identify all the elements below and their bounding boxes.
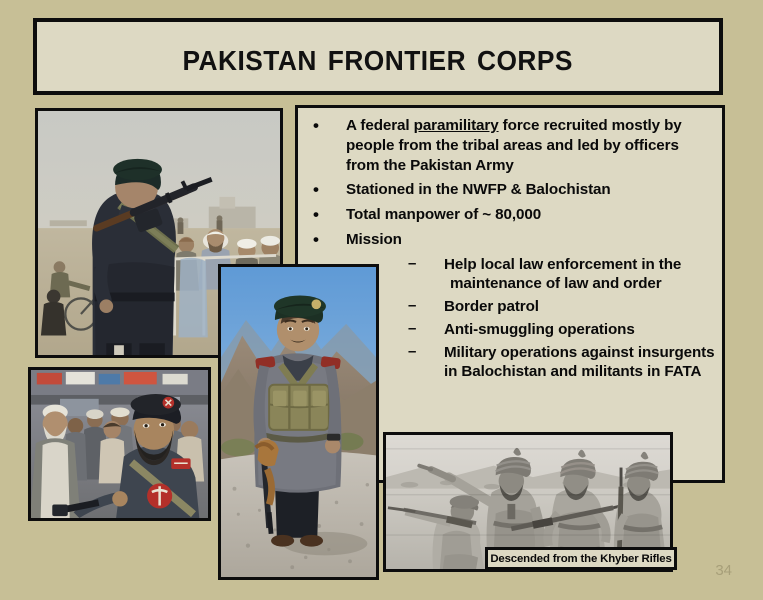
photo-soldier-standing-mountains-image	[221, 267, 376, 577]
sub-bullet-text: Anti-smuggling operations	[444, 321, 635, 338]
bullet-marker-icon: •	[313, 115, 319, 137]
bullet-text: Total manpower of ~ 80,000	[346, 206, 541, 223]
sub-bullet-item-law-enforcement: – Help local law enforcement in the main…	[402, 255, 716, 295]
bullet-text: Mission	[346, 231, 402, 248]
presentation-slide: Pakistan Frontier Corps • A federal para…	[0, 0, 763, 600]
sub-bullet-text: Military operations against insurgents i…	[444, 344, 714, 381]
bullet-text-part-before: A federal	[346, 117, 414, 134]
bullet-text: Stationed in the NWFP & Balochistan	[346, 181, 611, 198]
bullet-marker-icon: •	[313, 229, 319, 251]
photo-caption-text: Descended from the Khyber Rifles	[490, 553, 671, 565]
sub-bullet-text-line2: maintenance of law and order	[444, 274, 662, 294]
photo-soldier-standing-mountains	[218, 264, 379, 580]
page-title: Pakistan Frontier Corps	[183, 37, 573, 77]
bullet-list-level1: • A federal paramilitary force recruited…	[304, 116, 716, 250]
slide-title-box: Pakistan Frontier Corps	[33, 18, 723, 95]
dash-marker-icon: –	[408, 296, 416, 316]
bullet-list-level2: – Help local law enforcement in the main…	[402, 255, 716, 383]
sub-bullet-item-anti-smuggling: – Anti-smuggling operations	[402, 320, 716, 340]
sub-bullet-text: Border patrol	[444, 298, 539, 315]
bullet-marker-icon: •	[313, 204, 319, 226]
bullet-marker-icon: •	[313, 179, 319, 201]
photo-soldier-in-bazaar	[28, 367, 211, 521]
dash-marker-icon: –	[408, 342, 416, 362]
sub-bullet-item-military-operations: – Military operations against insurgents…	[402, 343, 716, 383]
bullet-item-mission: • Mission	[304, 230, 716, 250]
sub-bullet-text-line1: Help local law enforcement in the	[444, 255, 681, 275]
bullet-item-manpower: • Total manpower of ~ 80,000	[304, 205, 716, 225]
photo-caption-box: Descended from the Khyber Rifles	[485, 547, 677, 570]
sub-bullet-item-border-patrol: – Border patrol	[402, 297, 716, 317]
photo-soldier-in-bazaar-image	[31, 370, 208, 518]
bullet-item-stationed: • Stationed in the NWFP & Balochistan	[304, 180, 716, 200]
bullet-text-underlined: paramilitary	[414, 117, 499, 134]
slide-number: 34	[715, 562, 732, 579]
bullet-item-paramilitary: • A federal paramilitary force recruited…	[304, 116, 716, 175]
dash-marker-icon: –	[408, 254, 416, 274]
dash-marker-icon: –	[408, 319, 416, 339]
